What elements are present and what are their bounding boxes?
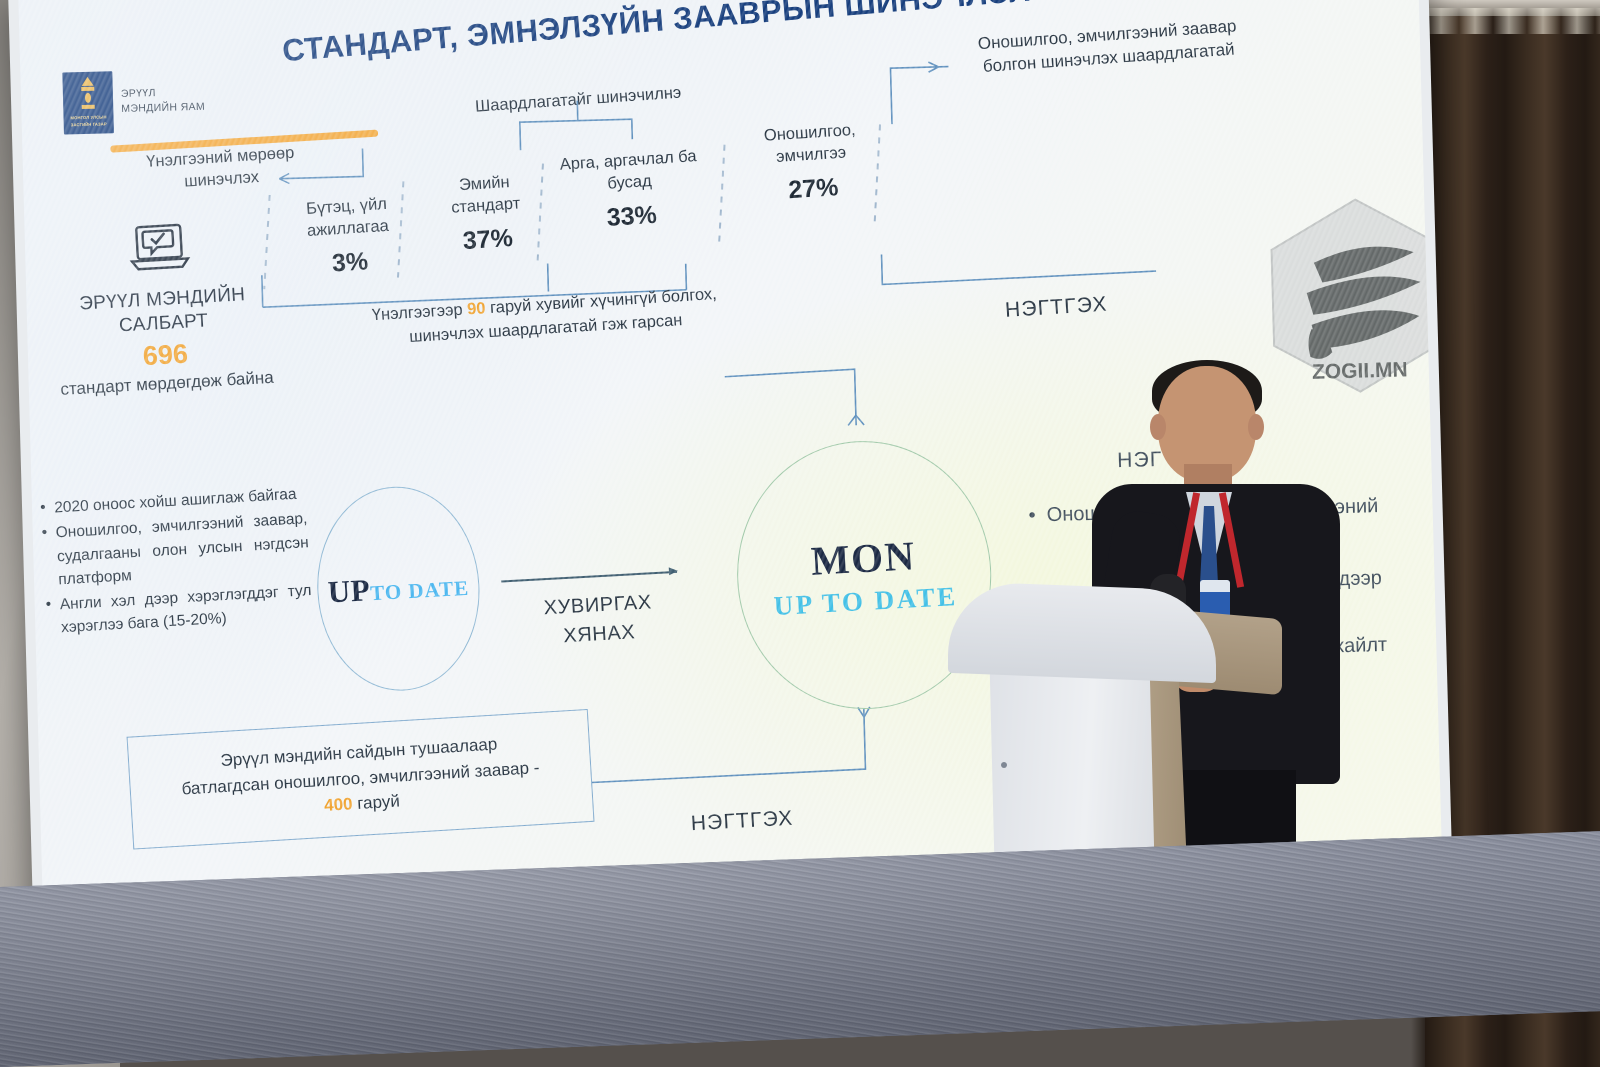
column-structure: Бүтэц, үйл ажиллагаа 3%: [287, 192, 410, 281]
arrow-caption: ХУВИРГАХ ХЯНАХ: [502, 586, 695, 654]
column-label: Эмийн стандарт: [430, 169, 541, 220]
column-label: Арга, аргачлал ба бусад: [543, 144, 715, 199]
column-diagnosis-treatment: Оношилгоо, эмчилгээ 27%: [731, 117, 892, 208]
laptop-check-icon: [122, 218, 197, 280]
column-value: 27%: [735, 169, 893, 208]
list-item: Оношилгоо, эмчилгээний заавар, судалгаан…: [39, 507, 311, 592]
arrow-line: [501, 571, 677, 582]
ministry-name-line2: МЭНДИЙН ЯАМ: [121, 100, 205, 117]
label-top-right-note: Оношилгоо, эмчилгээний заавар болгон шин…: [957, 14, 1259, 80]
label-consolidate-mid: НЭГТГЭХ: [1004, 293, 1108, 323]
occluded-word-hailt: хайлт: [1334, 634, 1388, 658]
podium-screw-top: [1001, 762, 1007, 768]
column-label: Оношилгоо, эмчилгээ: [731, 117, 890, 171]
column-drug-standard: Эмийн стандарт 37%: [430, 169, 543, 257]
mon-wordmark: MON: [810, 531, 917, 585]
occluded-word-deer: дээр: [1338, 567, 1382, 591]
minister-order-number: 400: [324, 794, 353, 815]
center-annotation: Үнэлгээгээр 90 гаруй хувийг хүчингүй бол…: [364, 282, 726, 352]
state-emblem-icon: МОНГОЛ УЛСЫН ЗАСГИЙН ГАЗАР: [62, 71, 114, 134]
speaker-ear-left: [1150, 414, 1166, 440]
center-annotation-number: 90: [467, 299, 486, 318]
label-consolidate-bottom: НЭГТГЭХ: [690, 807, 794, 837]
minister-order-suffix: гаруй: [352, 791, 400, 813]
column-value: 3%: [290, 244, 410, 280]
standards-summary-title: ЭРҮҮЛ МЭНДИЙН САЛБАРТ: [52, 282, 274, 342]
uptodate-wordmark: UPTO DATE: [327, 567, 470, 611]
emblem-text-line1: МОНГОЛ УЛСЫН: [70, 114, 106, 120]
transform-arrow: ХУВИРГАХ ХЯНАХ: [501, 570, 695, 654]
uptodate-todate: TO DATE: [370, 576, 470, 605]
center-annotation-before: Үнэлгээгээр: [371, 300, 467, 324]
speaker-ear-right: [1248, 414, 1264, 440]
standards-summary-block: ЭРҮҮЛ МЭНДИЙН САЛБАРТ 696 стандарт мөрдө…: [48, 214, 278, 401]
column-label: Бүтэц, үйл ажиллагаа: [287, 192, 408, 244]
uptodate-source-circle: UPTO DATE: [312, 482, 485, 695]
uptodate-up: UP: [327, 572, 371, 609]
minister-order-box: Эрүүл мэндийн сайдын тушаалаар батлагдса…: [127, 709, 595, 849]
column-value: 37%: [433, 222, 543, 258]
mon-uptodate-subtitle: UP TO DATE: [773, 580, 958, 621]
podium-desktop: [948, 581, 1216, 683]
soyombo-icon: [80, 77, 95, 113]
uptodate-bullet-list: 2020 оноос хойш ашиглаж байгаа Оношилгоо…: [38, 482, 314, 642]
column-value: 33%: [546, 196, 718, 236]
conference-room: МОНГОЛ УЛСЫН ЗАСГИЙН ГАЗАР ЭРҮҮЛ МЭНДИЙН…: [0, 0, 1600, 1067]
ministry-logo: МОНГОЛ УЛСЫН ЗАСГИЙН ГАЗАР ЭРҮҮЛ МЭНДИЙН…: [62, 69, 205, 135]
ceiling-light-strip: [1425, 8, 1600, 34]
category-columns: Бүтэц, үйл ажиллагаа 3% Эмийн стандарт 3…: [271, 123, 888, 297]
column-methods-other: Арга, аргачлал ба бусад 33%: [543, 144, 718, 236]
emblem-text-line2: ЗАСГИЙН ГАЗАР: [71, 122, 107, 128]
label-requirements-update: Шаардлагатайг шинэчилнэ: [453, 80, 704, 119]
